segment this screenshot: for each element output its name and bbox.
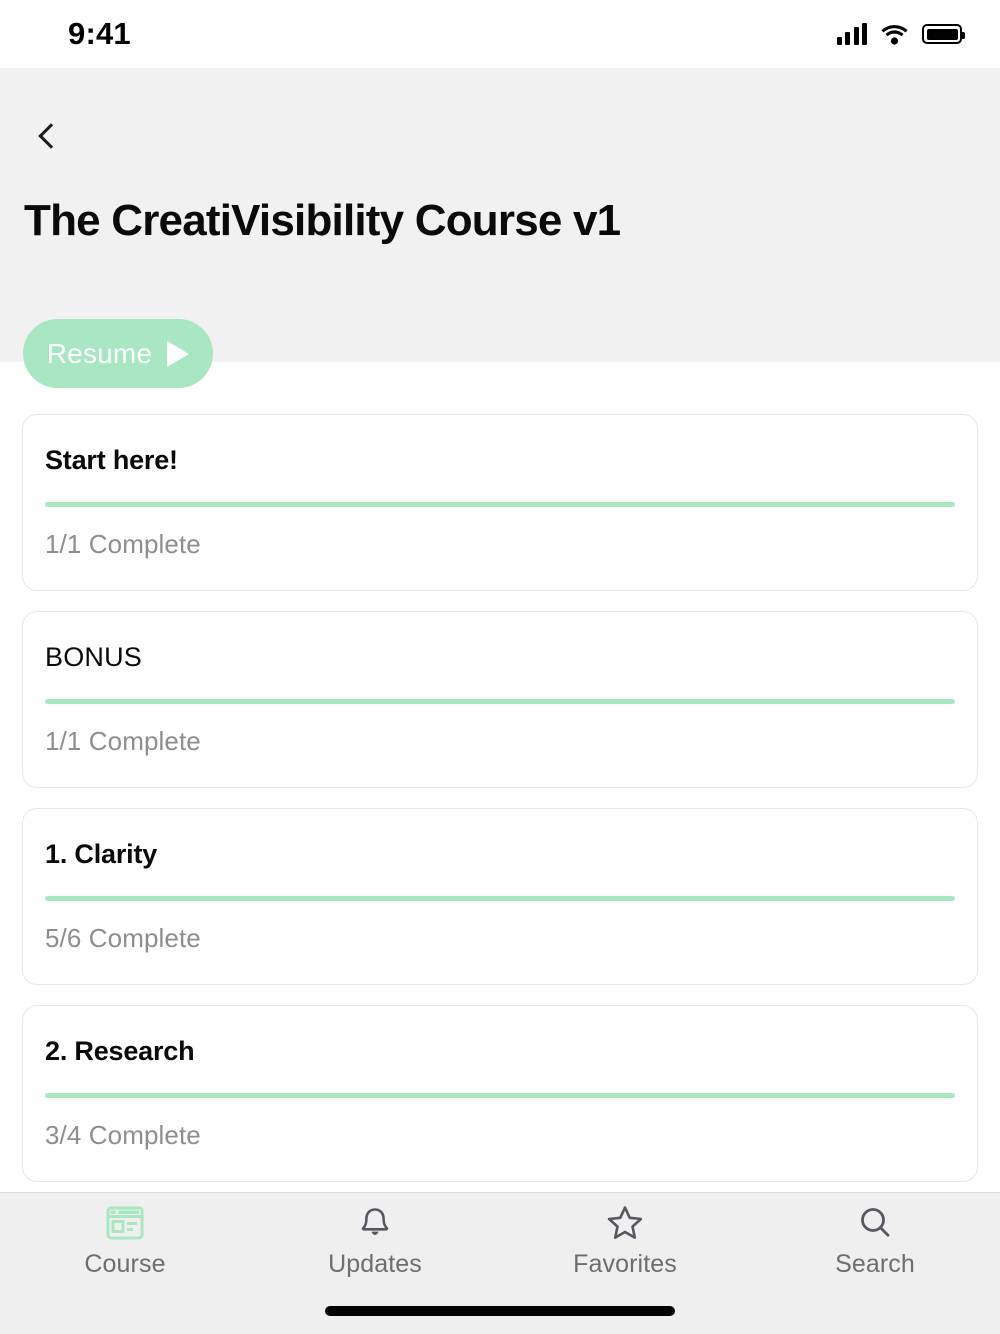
page-title: The CreatiVisibility Course v1	[24, 196, 620, 247]
resume-button-label: Resume	[47, 338, 152, 370]
section-list: Start here! 1/1 Complete BONUS 1/1 Compl…	[0, 362, 1000, 1192]
tab-updates[interactable]: Updates	[250, 1203, 500, 1279]
section-progress-bar	[45, 896, 955, 901]
course-window-icon	[106, 1203, 144, 1243]
section-progress-bar	[45, 502, 955, 507]
section-title: 2. Research	[45, 1036, 955, 1067]
section-progress-label: 3/4 Complete	[45, 1120, 955, 1151]
star-icon	[606, 1203, 644, 1243]
section-progress-bar	[45, 699, 955, 704]
app-screen: 9:41 The CreatiVisibility Course v1 Resu…	[0, 0, 1000, 1334]
back-chevron-icon	[38, 123, 63, 148]
tab-label-updates: Updates	[328, 1250, 422, 1279]
section-progress-fill	[45, 896, 955, 901]
home-indicator-area	[0, 1288, 1000, 1334]
section-card[interactable]: BONUS 1/1 Complete	[22, 611, 978, 788]
tab-course[interactable]: Course	[0, 1203, 250, 1279]
cellular-signal-icon	[837, 23, 868, 45]
section-progress-fill	[45, 1093, 955, 1098]
section-progress-label: 1/1 Complete	[45, 726, 955, 757]
tab-label-course: Course	[84, 1250, 165, 1279]
status-bar: 9:41	[0, 0, 1000, 68]
search-icon	[856, 1203, 894, 1243]
bell-icon	[356, 1203, 394, 1243]
back-button[interactable]	[20, 108, 76, 164]
section-title: Start here!	[45, 445, 955, 476]
tab-search[interactable]: Search	[750, 1203, 1000, 1279]
status-time: 9:41	[68, 16, 131, 52]
wifi-icon	[881, 24, 908, 45]
section-progress-fill	[45, 699, 955, 704]
section-progress-label: 1/1 Complete	[45, 529, 955, 560]
section-progress-fill	[45, 502, 955, 507]
tab-favorites[interactable]: Favorites	[500, 1203, 750, 1279]
tab-label-favorites: Favorites	[573, 1250, 677, 1279]
home-indicator	[325, 1306, 675, 1316]
section-title: BONUS	[45, 642, 955, 673]
section-progress-label: 5/6 Complete	[45, 923, 955, 954]
section-card[interactable]: Start here! 1/1 Complete	[22, 414, 978, 591]
battery-full-icon	[922, 24, 962, 44]
section-title: 1. Clarity	[45, 839, 955, 870]
resume-button[interactable]: Resume	[23, 319, 213, 388]
tab-label-search: Search	[835, 1250, 915, 1279]
status-icons	[837, 23, 963, 45]
section-card[interactable]: 1. Clarity 5/6 Complete	[22, 808, 978, 985]
bottom-tab-bar: Course Updates Favorites	[0, 1192, 1000, 1288]
page-header: The CreatiVisibility Course v1	[0, 68, 1000, 362]
play-triangle-icon	[167, 341, 189, 367]
section-progress-bar	[45, 1093, 955, 1098]
section-card[interactable]: 2. Research 3/4 Complete	[22, 1005, 978, 1182]
